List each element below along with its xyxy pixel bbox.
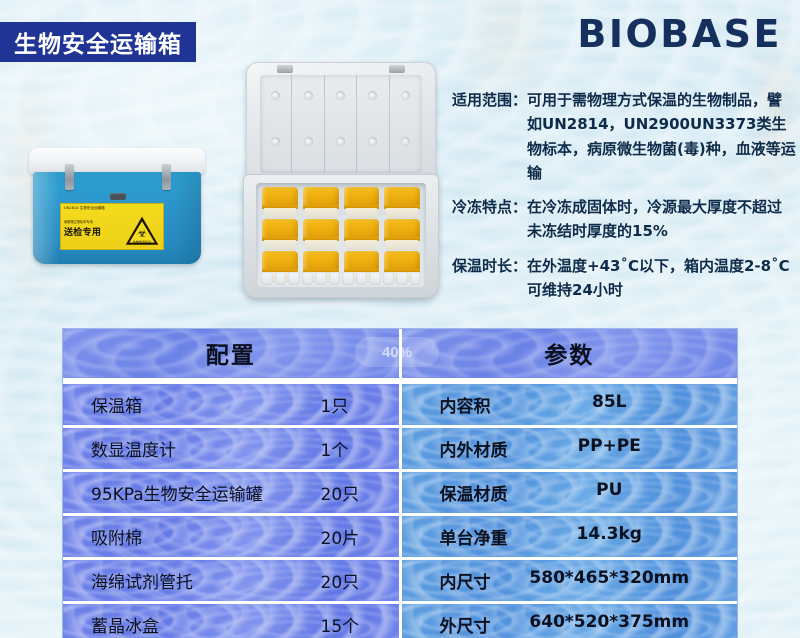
param-cell: 内尺寸 580*465*320mm xyxy=(402,560,738,601)
param-value: PU xyxy=(512,472,738,513)
vial xyxy=(261,219,299,249)
table-row: 蓄晶冰盒 15个 外尺寸 640*520*375mm xyxy=(63,601,737,638)
open-box-lid xyxy=(246,62,436,184)
description-label: 适用范围 xyxy=(452,88,512,185)
param-cell: 内容积 85L xyxy=(402,384,738,425)
product-image-closed-box: UN2814 生物安全运输箱 病原微生物标本专用 送检专用 ☣ 生物危害标识 xyxy=(27,148,207,270)
config-value: 1只 xyxy=(321,384,399,425)
specification-table: 40% 配置 参数 保温箱 1只 内容积 85L xyxy=(62,328,738,638)
biohazard-icon: ☣ 生物危害标识 xyxy=(125,216,159,246)
description-label: 保温时长 xyxy=(452,254,512,303)
param-name: 外尺寸 xyxy=(402,604,512,638)
vial xyxy=(302,187,340,217)
sponge-tube-rack xyxy=(261,272,421,285)
config-value: 20只 xyxy=(321,472,399,513)
latch-right-icon xyxy=(162,164,171,190)
table-header-row: 配置 参数 xyxy=(63,329,737,381)
biohazard-warning-label: UN2814 生物安全运输箱 病原微生物标本专用 送检专用 ☣ 生物危害标识 xyxy=(60,203,164,250)
param-cell: 保温材质 PU xyxy=(402,472,738,513)
hinge-left-icon xyxy=(277,65,293,73)
config-value: 20片 xyxy=(321,516,399,557)
config-name: 蓄晶冰盒 xyxy=(63,604,321,638)
vial xyxy=(343,219,381,249)
table-row: 吸附棉 20片 单台净重 14.3kg xyxy=(63,513,737,557)
table-header-parameters-label: 参数 xyxy=(402,336,738,370)
param-value: 85L xyxy=(512,384,738,425)
transport-vial-grid xyxy=(261,187,421,281)
description-colon: ： xyxy=(512,195,527,244)
config-cell: 海绵试剂管托 20只 xyxy=(63,560,399,601)
description-block: 适用范围 ： 可用于需物理方式保温的生物制品，譬如UN2814，UN2900UN… xyxy=(452,88,796,312)
description-item-duration: 保温时长 ： 在外温度+43˚C以下，箱内温度2-8˚C可维持24小时 xyxy=(452,254,796,303)
param-cell: 内外材质 PP+PE xyxy=(402,428,738,469)
description-text: 在外温度+43˚C以下，箱内温度2-8˚C可维持24小时 xyxy=(527,254,796,303)
description-text: 在冷冻成固体时，冷源最大厚度不超过未冻结时厚度的15% xyxy=(527,195,796,244)
param-name: 保温材质 xyxy=(402,472,512,513)
param-name: 内尺寸 xyxy=(402,560,512,601)
closed-box-handle xyxy=(110,193,126,200)
latch-left-icon xyxy=(65,164,74,190)
config-value: 1个 xyxy=(321,428,399,469)
param-value: PP+PE xyxy=(512,428,738,469)
description-colon: ： xyxy=(512,254,527,303)
vial xyxy=(383,187,421,217)
open-box-cavity xyxy=(256,183,426,287)
config-cell: 吸附棉 20片 xyxy=(63,516,399,557)
vial xyxy=(261,187,299,217)
open-box-base xyxy=(243,174,439,298)
config-cell: 数显温度计 1个 xyxy=(63,428,399,469)
param-name: 单台净重 xyxy=(402,516,512,557)
table-header-parameters: 参数 xyxy=(402,329,738,378)
config-name: 95KPa生物安全运输罐 xyxy=(63,472,321,513)
param-cell: 单台净重 14.3kg xyxy=(402,516,738,557)
brand-logo: BIOBASE xyxy=(577,12,782,56)
table-row: 保温箱 1只 内容积 85L xyxy=(63,381,737,425)
hinge-right-icon xyxy=(389,65,405,73)
table-row: 数显温度计 1个 内外材质 PP+PE xyxy=(63,425,737,469)
closed-box-lid xyxy=(29,148,205,174)
infographic-page: 生物安全运输箱 BIOBASE UN2814 生物安全运输箱 病原微生物标本专用… xyxy=(0,0,800,638)
table-row: 海绵试剂管托 20只 内尺寸 580*465*320mm xyxy=(63,557,737,601)
biohazard-caption: 生物危害标识 xyxy=(125,240,159,244)
param-name: 内外材质 xyxy=(402,428,512,469)
description-colon: ： xyxy=(512,88,527,185)
description-item-application: 适用范围 ： 可用于需物理方式保温的生物制品，譬如UN2814，UN2900UN… xyxy=(452,88,796,185)
table-row: 95KPa生物安全运输罐 20只 保温材质 PU xyxy=(63,469,737,513)
vial xyxy=(383,219,421,249)
param-value: 640*520*375mm xyxy=(512,604,738,638)
config-name: 数显温度计 xyxy=(63,428,321,469)
config-cell: 蓄晶冰盒 15个 xyxy=(63,604,399,638)
table-header-configuration: 配置 xyxy=(63,329,399,378)
description-item-freezing: 冷冻特点 ： 在冷冻成固体时，冷源最大厚度不超过未冻结时厚度的15% xyxy=(452,195,796,244)
param-value: 14.3kg xyxy=(512,516,738,557)
vial xyxy=(343,187,381,217)
page-title: 生物安全运输箱 xyxy=(14,25,182,59)
open-box-lid-interior xyxy=(260,75,422,173)
param-value: 580*465*320mm xyxy=(512,560,738,601)
config-value: 15个 xyxy=(321,604,399,638)
config-name: 海绵试剂管托 xyxy=(63,560,321,601)
config-value: 20只 xyxy=(321,560,399,601)
config-cell: 保温箱 1只 xyxy=(63,384,399,425)
config-cell: 95KPa生物安全运输罐 20只 xyxy=(63,472,399,513)
label-un-code: UN2814 生物安全运输箱 xyxy=(64,206,160,210)
vial xyxy=(302,219,340,249)
product-image-open-box xyxy=(243,62,439,298)
description-text: 可用于需物理方式保温的生物制品，譬如UN2814，UN2900UN3373类生物… xyxy=(527,88,796,185)
config-name: 保温箱 xyxy=(63,384,321,425)
description-label: 冷冻特点 xyxy=(452,195,512,244)
title-banner: 生物安全运输箱 xyxy=(0,22,196,62)
param-cell: 外尺寸 640*520*375mm xyxy=(402,604,738,638)
param-name: 内容积 xyxy=(402,384,512,425)
config-name: 吸附棉 xyxy=(63,516,321,557)
table-header-configuration-label: 配置 xyxy=(63,336,399,370)
